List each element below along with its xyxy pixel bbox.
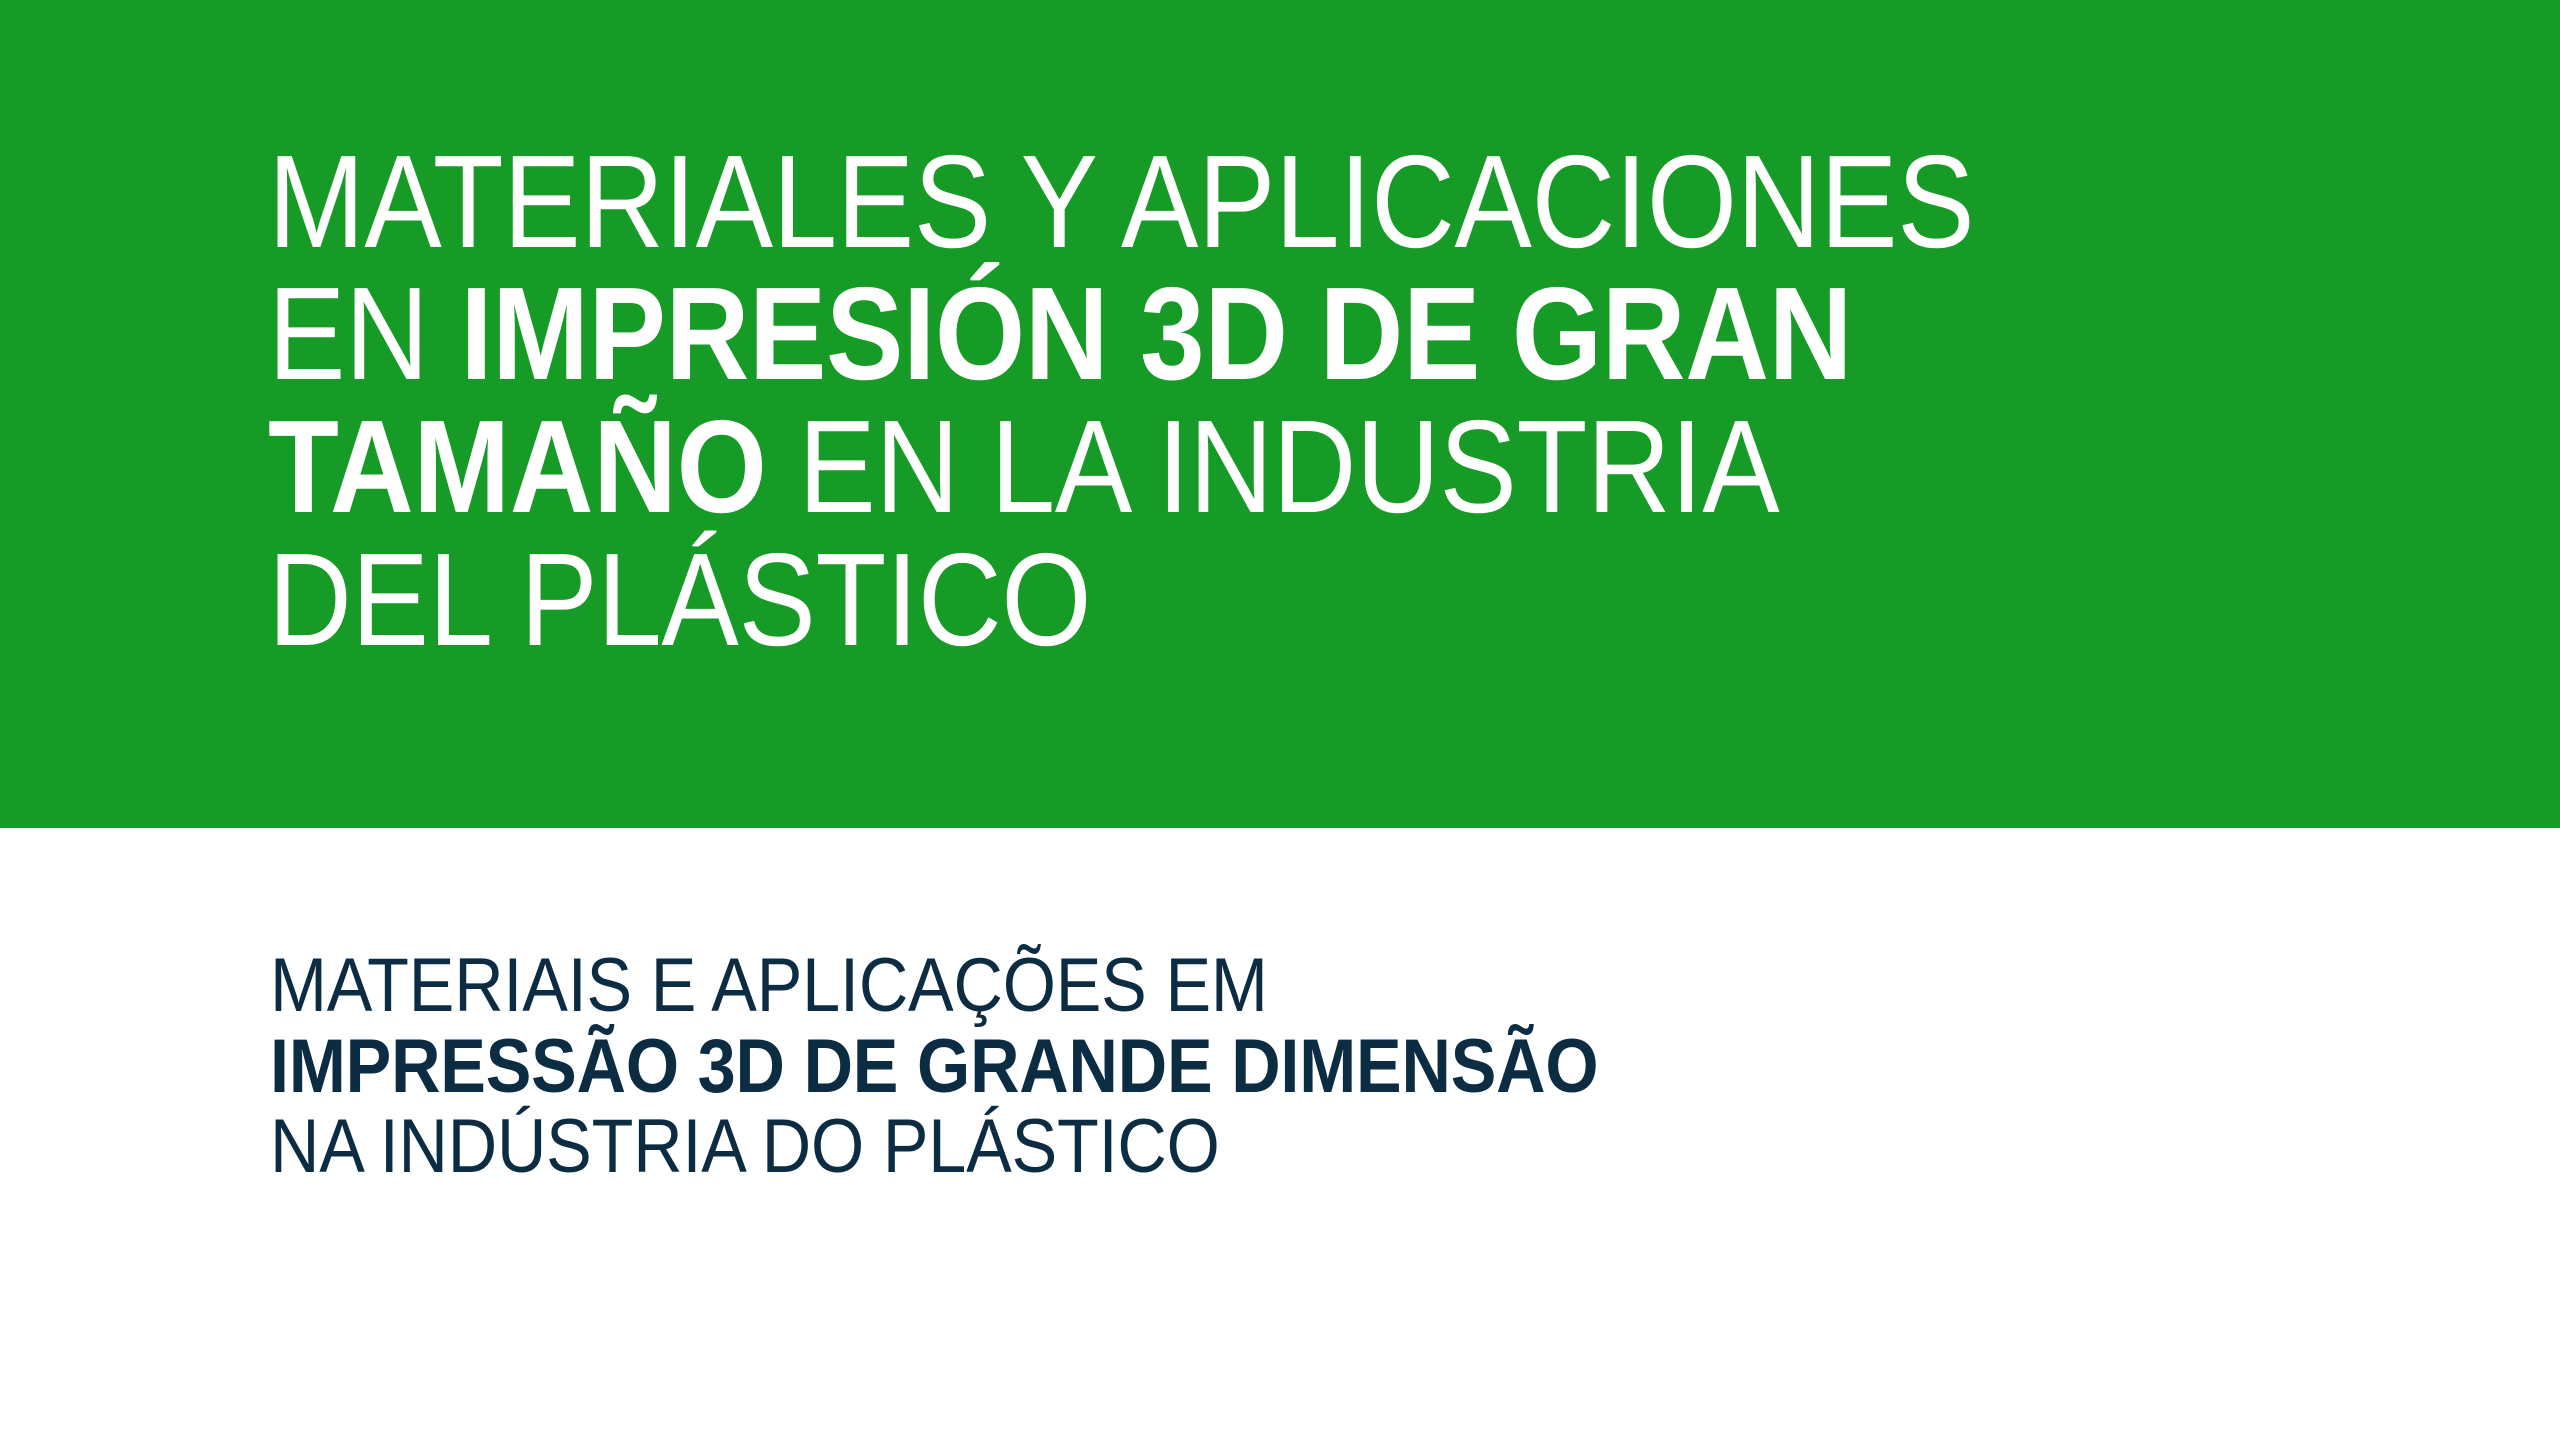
hero-title-line-3-regular: EN LA INDUSTRIA: [766, 393, 1779, 540]
subtitle-line-1-text: MATERIAIS E APLICAÇÕES EM: [270, 943, 1268, 1028]
page-subtitle-portuguese: MATERIAIS E APLICAÇÕES EM IMPRESSÃO 3D D…: [270, 946, 2241, 1188]
slide-root: MATERIALES Y APLICACIONES EN IMPRESIÓN 3…: [0, 0, 2560, 1440]
hero-title-line-2-regular: EN: [268, 260, 460, 407]
hero-title-line-1-text: MATERIALES Y APLICACIONES: [268, 128, 1974, 275]
hero-title-line-3: TAMAÑO EN LA INDUSTRIA: [268, 401, 2197, 534]
subtitle-line-2-bold: IMPRESSÃO 3D DE GRANDE DIMENSÃO: [270, 1024, 1598, 1109]
subtitle-white-section: MATERIAIS E APLICAÇÕES EM IMPRESSÃO 3D D…: [0, 828, 2560, 1440]
page-title-spanish: MATERIALES Y APLICACIONES EN IMPRESIÓN 3…: [268, 136, 2197, 667]
hero-title-line-3-bold: TAMAÑO: [268, 393, 766, 540]
hero-title-line-2: EN IMPRESIÓN 3D DE GRAN: [268, 268, 2197, 401]
hero-title-line-2-bold: IMPRESIÓN 3D DE GRAN: [460, 260, 1852, 407]
hero-title-line-1: MATERIALES Y APLICACIONES: [268, 136, 2197, 269]
subtitle-line-1: MATERIAIS E APLICAÇÕES EM: [270, 946, 2241, 1027]
hero-title-line-4-text: DEL PLÁSTICO: [268, 526, 1091, 673]
subtitle-line-3: NA INDÚSTRIA DO PLÁSTICO: [270, 1107, 2241, 1188]
hero-green-band: MATERIALES Y APLICACIONES EN IMPRESIÓN 3…: [0, 0, 2560, 828]
subtitle-line-2: IMPRESSÃO 3D DE GRANDE DIMENSÃO: [270, 1027, 2241, 1108]
subtitle-line-3-text: NA INDÚSTRIA DO PLÁSTICO: [270, 1104, 1220, 1189]
hero-title-line-4: DEL PLÁSTICO: [268, 534, 2197, 667]
